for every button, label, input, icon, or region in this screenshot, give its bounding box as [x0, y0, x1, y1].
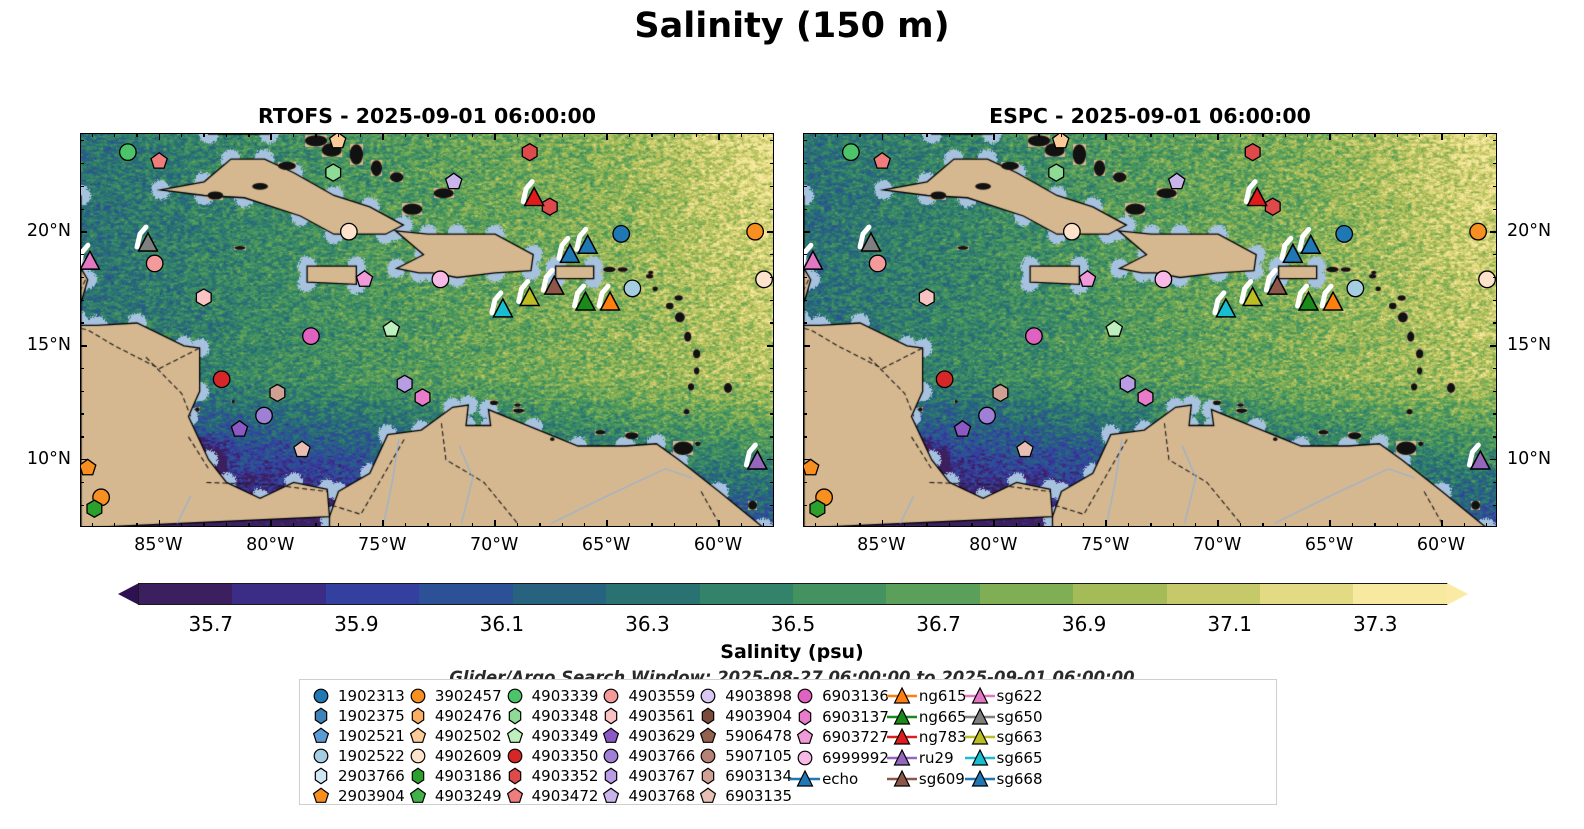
- x-tick-label: 60°W: [694, 535, 742, 555]
- legend-entry-label: sg668: [993, 770, 1043, 788]
- float-marker-4903768: [1169, 173, 1185, 188]
- glider-track-icon: [967, 769, 993, 789]
- float-marker-2903766: [1470, 223, 1487, 240]
- panel-title-rtofs: RTOFS - 2025-09-01 06:00:00: [80, 104, 774, 128]
- hexagon-marker-icon: [405, 766, 431, 786]
- float-marker-4903629: [954, 421, 970, 436]
- legend-entry-label: echo: [818, 770, 858, 788]
- float-marker-6999992: [1155, 271, 1172, 288]
- hexagon-marker-icon: [792, 707, 818, 727]
- float-marker-4903186: [810, 500, 825, 517]
- glider-track-icon: [967, 686, 993, 706]
- float-marker-1902313: [1336, 226, 1353, 243]
- hexagon-marker-icon: [598, 706, 624, 726]
- float-marker-4903767: [397, 375, 412, 392]
- colorbar-band: [700, 584, 793, 604]
- colorbar-band: [1260, 584, 1353, 604]
- float-marker-1902313: [613, 226, 630, 243]
- colorbar-tick-label: 36.3: [625, 612, 670, 636]
- float-marker-4902609: [341, 223, 358, 240]
- float-marker-4903904: [542, 198, 557, 215]
- y-tick-label: 15°N: [5, 335, 71, 355]
- float-marker-4903352: [522, 144, 537, 161]
- float-marker-4902609: [1064, 223, 1081, 240]
- legend-entry-label: 1902521: [334, 727, 405, 745]
- legend-column: 3902457490247649025024902609490318649032…: [405, 686, 502, 800]
- y-tick-label: 10°N: [5, 449, 71, 469]
- legend-entry-label: sg650: [993, 708, 1043, 726]
- pentagon-marker-icon: [792, 727, 818, 747]
- legend-entry[interactable]: sg609: [889, 768, 967, 789]
- float-marker-4903904: [1265, 198, 1280, 215]
- float-marker-4903348: [326, 164, 341, 181]
- hexagon-marker-icon: [405, 706, 431, 726]
- float-marker-4903350: [213, 371, 230, 388]
- legend-entry-label: 4902609: [431, 747, 502, 765]
- legend-entry[interactable]: 1902313: [308, 686, 405, 706]
- glider-track-icon: [889, 748, 915, 768]
- legend-column: sg622 sg650 sg663 sg665 sg668: [967, 686, 1043, 800]
- legend-entry[interactable]: 6999992: [792, 748, 889, 769]
- legend-entry-label: 3902457: [431, 687, 502, 705]
- circle-marker-icon: [598, 686, 624, 706]
- float-marker-6903136: [1026, 328, 1043, 345]
- legend-entry[interactable]: 1902522: [308, 746, 405, 766]
- x-tick-label: 80°W: [969, 535, 1017, 555]
- legend-entry[interactable]: 2903766: [308, 766, 405, 786]
- marker-overlay-espc: [804, 134, 1496, 527]
- float-marker-4903349: [383, 321, 399, 336]
- float-marker-4903727: [356, 271, 372, 286]
- float-marker-4903561: [196, 289, 211, 306]
- colorbar-tick-label: 35.9: [334, 612, 379, 636]
- legend-entry[interactable]: 6903727: [792, 727, 889, 748]
- float-marker-2903904: [80, 459, 96, 474]
- pentagon-marker-icon: [502, 726, 528, 746]
- circle-marker-icon: [405, 686, 431, 706]
- legend-entry-label: 4903472: [528, 787, 599, 805]
- colorbar-tick-label: 37.3: [1353, 612, 1398, 636]
- legend-entry-label: 4903249: [431, 787, 502, 805]
- legend-entry[interactable]: 1902375: [308, 706, 405, 726]
- float-marker-4903727: [1079, 271, 1095, 286]
- glider-track-icon: [889, 727, 915, 747]
- colorbar-band: [980, 584, 1073, 604]
- legend-entry-label: 2903904: [334, 787, 405, 805]
- legend-entry-label: 4903629: [624, 727, 695, 745]
- legend-entry-label: 4903350: [528, 747, 599, 765]
- legend-entry-label: 1902375: [334, 707, 405, 725]
- x-tick-label: 80°W: [246, 535, 294, 555]
- page-title: Salinity (150 m): [0, 6, 1584, 46]
- float-marker-4903339: [120, 144, 137, 161]
- legend-entry-label: 4903352: [528, 767, 599, 785]
- legend-entry[interactable]: 4903249: [405, 786, 502, 806]
- pentagon-marker-icon: [598, 786, 624, 806]
- legend-entry-label: 5907105: [721, 747, 792, 765]
- colorbar-band: [139, 584, 232, 604]
- colorbar-tick-label: 36.5: [771, 612, 816, 636]
- legend-entry[interactable]: 4903767: [598, 766, 695, 786]
- colorbar: [118, 583, 1468, 605]
- legend-entry[interactable]: echo: [792, 768, 889, 789]
- legend-entry-label: ng783: [915, 728, 967, 746]
- float-marker-6903137: [415, 389, 430, 406]
- legend-entry[interactable]: sg622: [967, 686, 1043, 707]
- legend-entry[interactable]: 6903135: [695, 786, 792, 806]
- legend-column: 6903136690313769037276999992 echo: [792, 686, 889, 800]
- legend-entry-label: 4903348: [528, 707, 599, 725]
- colorbar-band: [326, 584, 419, 604]
- legend-entry[interactable]: 6903134: [695, 766, 792, 786]
- x-tick-label: 70°W: [1193, 535, 1241, 555]
- legend-entry[interactable]: sg650: [967, 707, 1043, 728]
- x-tick-label: 85°W: [134, 535, 182, 555]
- legend-column: 4903559490356149036294903766490376749037…: [598, 686, 695, 800]
- float-marker-6903137: [1138, 389, 1153, 406]
- legend-entry-label: 4903766: [624, 747, 695, 765]
- glider-track-icon: [967, 727, 993, 747]
- circle-marker-icon: [502, 686, 528, 706]
- circle-marker-icon: [405, 746, 431, 766]
- legend-entry-label: 2903766: [334, 767, 405, 785]
- map-panel-espc[interactable]: [803, 133, 1497, 527]
- float-marker-4903766: [256, 407, 273, 424]
- legend-entry-label: 4903559: [624, 687, 695, 705]
- colorbar-extend-min-icon: [118, 583, 139, 605]
- legend-entry[interactable]: 4903768: [598, 786, 695, 806]
- glider-track-icon: [967, 707, 993, 727]
- legend-entry-label: 5906478: [721, 727, 792, 745]
- circle-marker-icon: [598, 746, 624, 766]
- pentagon-marker-icon: [598, 726, 624, 746]
- legend-column: ng615 ng665 ng783 ru29 sg609: [889, 686, 967, 800]
- colorbar-gradient: [138, 583, 1448, 605]
- hexagon-marker-icon: [502, 766, 528, 786]
- legend-entry[interactable]: 4903472: [502, 786, 599, 806]
- legend-entry-label: 4902476: [431, 707, 502, 725]
- circle-marker-icon: [792, 686, 818, 706]
- legend-entry-label: 4903339: [528, 687, 599, 705]
- float-marker-2903904: [803, 459, 819, 474]
- legend-entry-label: 4902502: [431, 727, 502, 745]
- legend-entry-label: 1902522: [334, 747, 405, 765]
- legend-entry-label: ng665: [915, 708, 967, 726]
- salinity-figure: Salinity (150 m) RTOFS - 2025-09-01 06:0…: [0, 0, 1584, 829]
- glider-track-icon: [792, 769, 818, 789]
- float-marker-4903349: [1106, 321, 1122, 336]
- legend-column: 4903339490334849033494903350490335249034…: [502, 686, 599, 800]
- float-marker-4903767: [1120, 375, 1135, 392]
- legend-entry[interactable]: 6903137: [792, 707, 889, 728]
- colorbar-band: [606, 584, 699, 604]
- float-marker-4903350: [936, 371, 953, 388]
- float-marker-6903134: [993, 384, 1008, 401]
- float-marker-4903352: [1245, 144, 1260, 161]
- legend-entry-label: sg622: [993, 687, 1043, 705]
- float-marker-1902522: [624, 280, 641, 297]
- float-marker-1902521: [1479, 271, 1496, 288]
- legend-entry-label: 1902313: [334, 687, 405, 705]
- float-marker-6903135: [1017, 441, 1033, 456]
- pentagon-marker-icon: [695, 786, 721, 806]
- pentagon-marker-icon: [308, 726, 334, 746]
- x-tick-label: 65°W: [582, 535, 630, 555]
- hexagon-marker-icon: [598, 766, 624, 786]
- colorbar-tick-label: 36.1: [480, 612, 525, 636]
- y-tick-label: 10°N: [1507, 449, 1551, 469]
- legend-entry[interactable]: 4903629: [598, 726, 695, 746]
- float-marker-4903561: [919, 289, 934, 306]
- hexagon-marker-icon: [695, 706, 721, 726]
- pentagon-marker-icon: [405, 786, 431, 806]
- legend-entry-label: 4903561: [624, 707, 695, 725]
- float-marker-4903339: [843, 144, 860, 161]
- colorbar-band: [1167, 584, 1260, 604]
- legend-entry-label: sg665: [993, 749, 1043, 767]
- legend-entry[interactable]: sg665: [967, 748, 1043, 769]
- circle-marker-icon: [695, 686, 721, 706]
- legend-entry-label: ru29: [915, 749, 954, 767]
- legend-entry[interactable]: 4903904: [695, 706, 792, 726]
- circle-marker-icon: [308, 686, 334, 706]
- legend-entry-label: 6903136: [818, 687, 889, 705]
- pentagon-marker-icon: [405, 726, 431, 746]
- legend-entry-label: 4903904: [721, 707, 792, 725]
- legend-entry[interactable]: sg668: [967, 768, 1043, 789]
- legend-entry[interactable]: 4903766: [598, 746, 695, 766]
- legend-entry-label: 6999992: [818, 749, 889, 767]
- panel-title-espc: ESPC - 2025-09-01 06:00:00: [803, 104, 1497, 128]
- float-marker-4903768: [446, 173, 462, 188]
- float-marker-4903186: [87, 500, 102, 517]
- float-marker-4903766: [979, 407, 996, 424]
- legend-entry[interactable]: 2903904: [308, 786, 405, 806]
- legend-entry[interactable]: 6903136: [792, 686, 889, 707]
- legend-entry[interactable]: 4903349: [502, 726, 599, 746]
- legend-entry[interactable]: 4903186: [405, 766, 502, 786]
- legend-entry-label: 4903767: [624, 767, 695, 785]
- float-marker-6903135: [294, 441, 310, 456]
- pentagon-marker-icon: [502, 786, 528, 806]
- legend-entry-label: 6903137: [818, 708, 889, 726]
- legend-entry[interactable]: ng665: [889, 707, 967, 728]
- colorbar-tick-label: 36.7: [916, 612, 961, 636]
- legend-entry[interactable]: 4903352: [502, 766, 599, 786]
- legend-entry[interactable]: 4903559: [598, 686, 695, 706]
- float-marker-1902522: [1347, 280, 1364, 297]
- hexagon-marker-icon: [308, 766, 334, 786]
- pentagon-marker-icon: [308, 786, 334, 806]
- legend-entry[interactable]: 1902521: [308, 726, 405, 746]
- colorbar-tick-label: 35.7: [189, 612, 234, 636]
- colorbar-tick-label: 36.9: [1062, 612, 1107, 636]
- legend-entry[interactable]: 5906478: [695, 726, 792, 746]
- float-marker-4903559: [146, 255, 163, 272]
- colorbar-band: [232, 584, 325, 604]
- colorbar-band: [419, 584, 512, 604]
- colorbar-band: [1353, 584, 1446, 604]
- legend-entry[interactable]: 4903561: [598, 706, 695, 726]
- y-tick-label: 15°N: [1507, 335, 1551, 355]
- hexagon-marker-icon: [695, 766, 721, 786]
- legend-entry-label: 4903768: [624, 787, 695, 805]
- float-marker-1902521: [756, 271, 773, 288]
- legend: 1902313190237519025211902522290376629039…: [299, 679, 1277, 805]
- circle-marker-icon: [792, 748, 818, 768]
- float-marker-6903136: [303, 328, 320, 345]
- marker-overlay-rtofs: [81, 134, 773, 527]
- colorbar-band: [1073, 584, 1166, 604]
- float-marker-4903559: [869, 255, 886, 272]
- float-marker-4903472: [151, 153, 167, 168]
- legend-entry-label: 6903135: [721, 787, 792, 805]
- circle-marker-icon: [308, 746, 334, 766]
- y-tick-label: 20°N: [1507, 221, 1551, 241]
- x-tick-label: 85°W: [857, 535, 905, 555]
- legend-entry-label: 6903134: [721, 767, 792, 785]
- glider-track-icon: [889, 707, 915, 727]
- float-marker-4903629: [231, 421, 247, 436]
- legend-entry[interactable]: 5907105: [695, 746, 792, 766]
- legend-entry[interactable]: ng783: [889, 727, 967, 748]
- glider-track-icon: [889, 686, 915, 706]
- float-marker-2903766: [747, 223, 764, 240]
- colorbar-band: [513, 584, 606, 604]
- hexagon-marker-icon: [308, 706, 334, 726]
- float-marker-6903134: [270, 384, 285, 401]
- y-tick-label: 20°N: [5, 221, 71, 241]
- legend-entry-label: 4903349: [528, 727, 599, 745]
- colorbar-tick-label: 37.1: [1207, 612, 1252, 636]
- legend-entry[interactable]: 3902457: [405, 686, 502, 706]
- x-tick-label: 60°W: [1417, 535, 1465, 555]
- colorbar-extend-max-icon: [1447, 583, 1468, 605]
- x-tick-label: 70°W: [470, 535, 518, 555]
- x-tick-label: 75°W: [358, 535, 406, 555]
- legend-entry-label: ng615: [915, 687, 967, 705]
- legend-entry[interactable]: 4902476: [405, 706, 502, 726]
- legend-entry[interactable]: sg663: [967, 727, 1043, 748]
- legend-entry[interactable]: ru29: [889, 748, 967, 769]
- legend-entry[interactable]: ng615: [889, 686, 967, 707]
- colorbar-axis-label: Salinity (psu): [0, 641, 1584, 663]
- circle-marker-icon: [502, 746, 528, 766]
- legend-entry-label: 4903898: [721, 687, 792, 705]
- legend-entry-label: 4903186: [431, 767, 502, 785]
- legend-entry[interactable]: 4902502: [405, 726, 502, 746]
- hexagon-marker-icon: [502, 706, 528, 726]
- colorbar-band: [886, 584, 979, 604]
- glider-track-icon: [889, 769, 915, 789]
- float-marker-4903472: [874, 153, 890, 168]
- legend-entry-label: 6903727: [818, 728, 889, 746]
- legend-entry-label: sg663: [993, 728, 1043, 746]
- circle-marker-icon: [695, 746, 721, 766]
- legend-column: 1902313190237519025211902522290376629039…: [308, 686, 405, 800]
- legend-entry[interactable]: 4903348: [502, 706, 599, 726]
- colorbar-band: [793, 584, 886, 604]
- legend-entry[interactable]: 4903350: [502, 746, 599, 766]
- glider-track-icon: [967, 748, 993, 768]
- legend-entry[interactable]: 4902609: [405, 746, 502, 766]
- legend-entry[interactable]: 4903339: [502, 686, 599, 706]
- pentagon-marker-icon: [695, 726, 721, 746]
- x-tick-label: 65°W: [1305, 535, 1353, 555]
- float-marker-6999992: [432, 271, 449, 288]
- map-panel-rtofs[interactable]: [80, 133, 774, 527]
- float-marker-4903348: [1049, 164, 1064, 181]
- legend-column: 4903898490390459064785907105690313469031…: [695, 686, 792, 800]
- legend-entry[interactable]: 4903898: [695, 686, 792, 706]
- legend-entry-label: sg609: [915, 770, 965, 788]
- x-tick-label: 75°W: [1081, 535, 1129, 555]
